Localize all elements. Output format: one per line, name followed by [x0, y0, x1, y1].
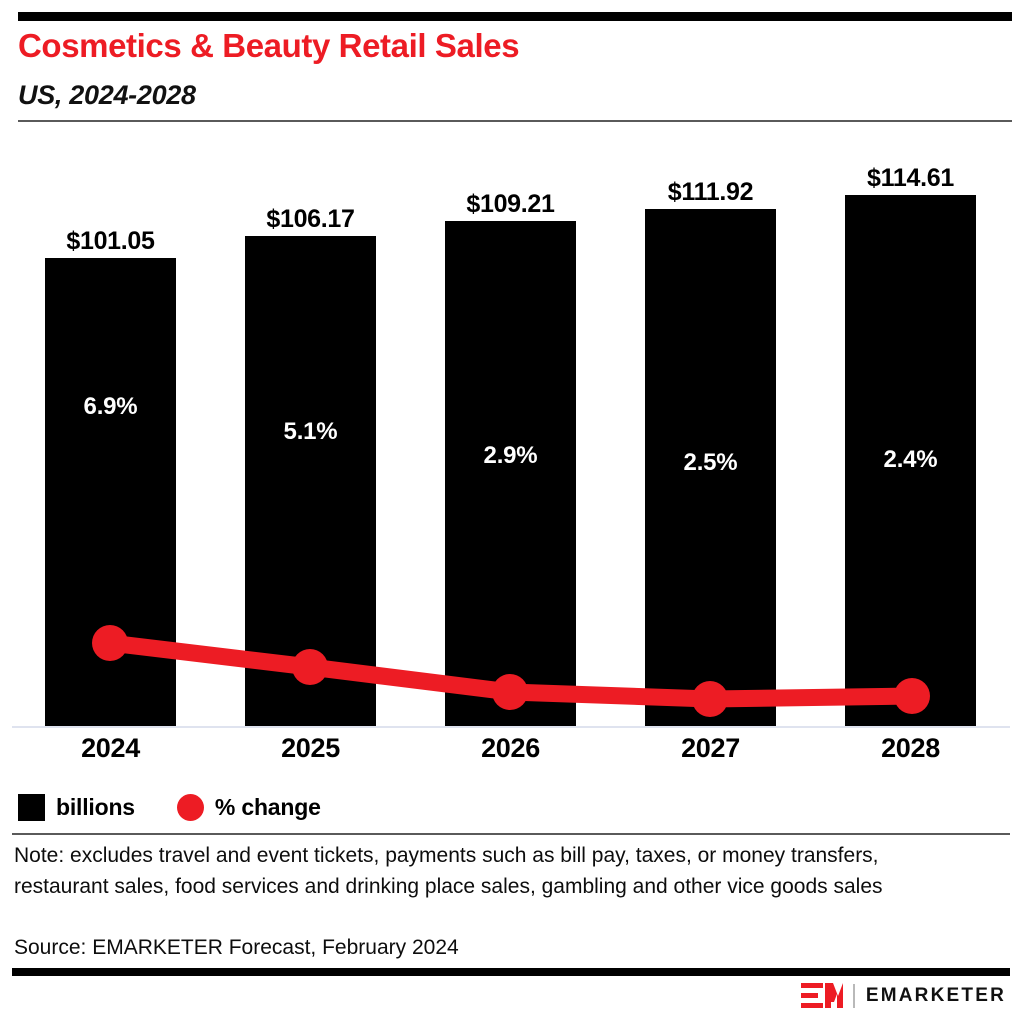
bar-value-label: $114.61 — [825, 164, 996, 193]
axis-baseline — [12, 726, 1010, 728]
chart-source: Source: EMARKETER Forecast, February 202… — [14, 934, 944, 962]
chart-legend: billions % change — [18, 790, 363, 824]
axis-tick-2027: 2027 — [625, 733, 796, 764]
x-axis: 2024 2025 2026 2027 2028 — [0, 733, 1020, 773]
note-divider — [12, 833, 1010, 835]
chart-note: Note: excludes travel and event tickets,… — [14, 840, 944, 902]
pct-value-label: 5.1% — [225, 418, 396, 446]
legend-item-pct-change[interactable]: % change — [177, 794, 321, 821]
page-title: Cosmetics & Beauty Retail Sales — [18, 26, 978, 66]
chart-page: Cosmetics & Beauty Retail Sales US, 2024… — [0, 0, 1020, 1016]
axis-tick-2024: 2024 — [25, 733, 196, 764]
brand-divider — [853, 984, 855, 1008]
bar-rect[interactable] — [245, 236, 376, 726]
bar-value-label: $109.21 — [425, 190, 596, 219]
bottom-rule — [12, 968, 1010, 976]
square-icon — [18, 794, 45, 821]
legend-item-billions[interactable]: billions — [18, 794, 135, 821]
circle-icon — [177, 794, 204, 821]
bar-value-label: $111.92 — [625, 178, 796, 207]
pct-value-label: 6.9% — [25, 393, 196, 421]
brand-logo: EMARKETER — [801, 982, 1006, 1010]
bar-rect[interactable] — [445, 221, 576, 726]
bar-value-label: $101.05 — [25, 227, 196, 256]
chart-plot-area: $101.05 6.9% $106.17 5.1% $109.21 2.9% $… — [0, 130, 1020, 730]
bar-rect[interactable] — [45, 258, 176, 726]
top-rule — [18, 12, 1012, 21]
pct-value-label: 2.5% — [625, 449, 796, 477]
axis-tick-2025: 2025 — [225, 733, 396, 764]
emarketer-em-icon — [801, 983, 843, 1009]
bar-value-label: $106.17 — [225, 205, 396, 234]
pct-value-label: 2.4% — [825, 446, 996, 474]
header-divider — [18, 120, 1012, 122]
axis-tick-2026: 2026 — [425, 733, 596, 764]
page-subtitle: US, 2024-2028 — [18, 78, 978, 112]
pct-value-label: 2.9% — [425, 442, 596, 470]
brand-wordmark: EMARKETER — [866, 985, 1006, 1007]
legend-item-label: billions — [56, 794, 135, 821]
axis-tick-2028: 2028 — [825, 733, 996, 764]
legend-item-label: % change — [215, 794, 321, 821]
